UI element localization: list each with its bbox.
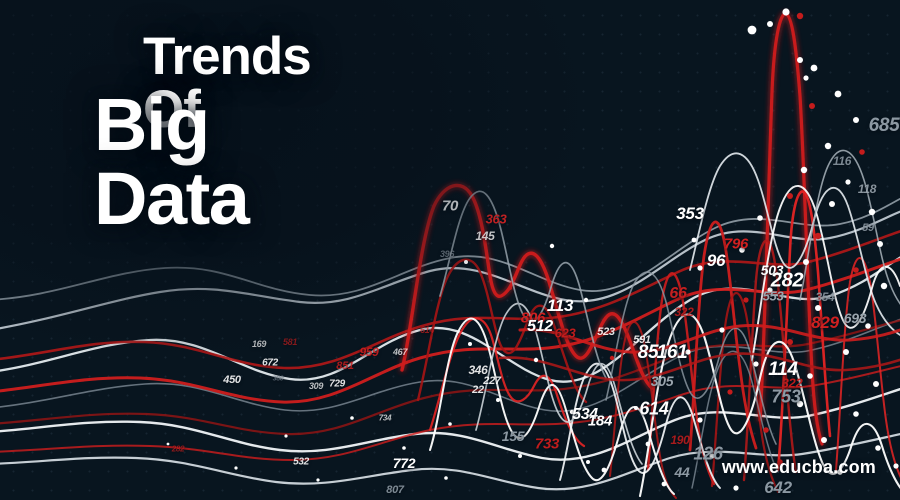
red-spike-group — [610, 14, 900, 498]
red-overlay-group — [500, 325, 900, 380]
infographic-banner: 7036314539635379696503282553354685116118… — [0, 0, 900, 500]
site-watermark: www.educba.com — [722, 457, 876, 478]
headline-line-2: Big Data — [94, 88, 248, 236]
trend-line-chart — [0, 0, 900, 500]
